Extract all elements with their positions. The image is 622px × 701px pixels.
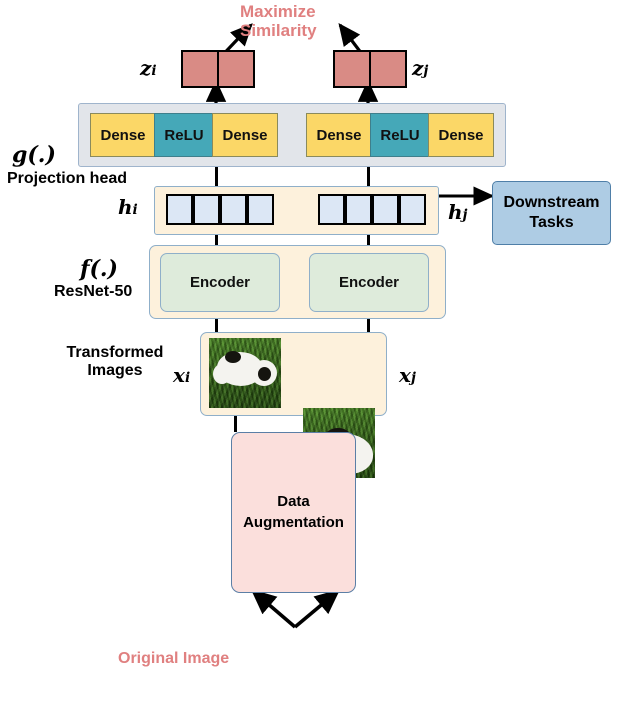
h-i-cell-3: [220, 194, 247, 225]
x-i-sub: i: [185, 370, 190, 386]
x-i-label: xi: [173, 363, 190, 387]
h-j-cell-1: [318, 194, 345, 225]
downstream-tasks-box[interactable]: Downstream Tasks: [492, 181, 611, 245]
h-j-base: h: [448, 200, 463, 224]
x-j-base: x: [399, 363, 411, 387]
transformed-image-i: [209, 338, 281, 408]
x-j-sub: j: [411, 370, 416, 386]
z-i-divider: [217, 52, 219, 86]
h-j-cell-4: [399, 194, 426, 225]
z-j-base: z: [412, 56, 423, 80]
original-to-augment-right: [295, 591, 338, 627]
h-j-cell-3: [372, 194, 399, 225]
projection-dense-right-1: Dense: [306, 113, 372, 157]
projection-head-name-label: Projection head: [7, 170, 127, 188]
z-i-sub: i: [151, 63, 156, 79]
h-i-cell-1: [166, 194, 193, 225]
dog-patch-i-2: [225, 351, 241, 363]
maximize-similarity-label: Maximize Similarity: [240, 2, 360, 40]
original-image-label: Original Image: [118, 650, 229, 668]
projection-dense-left-2: Dense: [212, 113, 278, 157]
dog-tail-i: [213, 364, 231, 384]
h-j-label: hj: [448, 200, 467, 224]
h-i-sub: i: [133, 202, 138, 218]
projection-head-function-label: g(.): [12, 142, 56, 168]
z-j-block: [333, 50, 407, 88]
h-j-sub: j: [463, 207, 468, 223]
z-j-sub: j: [423, 63, 428, 79]
h-j-cell-2: [345, 194, 372, 225]
h-i-cell-2: [193, 194, 220, 225]
x-i-base: x: [173, 363, 185, 387]
h-i-label: hi: [118, 195, 138, 219]
diagram-canvas: Maximize Similarity zi zj Dense ReLU Den…: [0, 0, 622, 701]
encoder-box-left: Encoder: [160, 253, 280, 312]
encoder-box-right: Encoder: [309, 253, 429, 312]
z-i-block: [181, 50, 255, 88]
projection-dense-left-1: Dense: [90, 113, 156, 157]
encoder-name-label: ResNet-50: [54, 283, 132, 301]
h-i-cell-4: [247, 194, 274, 225]
h-i-base: h: [118, 195, 133, 219]
projection-relu-right: ReLU: [370, 113, 430, 157]
encoder-function-label: f(.): [80, 256, 118, 282]
z-j-divider: [369, 52, 371, 86]
x-j-label: xj: [399, 363, 416, 387]
transformed-images-label: Transformed Images: [50, 344, 180, 380]
original-to-augment-left: [253, 591, 295, 627]
z-i-base: z: [140, 56, 151, 80]
z-j-label: zj: [412, 56, 428, 80]
data-augmentation-box: Data Augmentation: [231, 432, 356, 593]
projection-relu-left: ReLU: [154, 113, 214, 157]
projection-dense-right-2: Dense: [428, 113, 494, 157]
z-i-label: zi: [140, 56, 157, 80]
dog-patch-i-1: [258, 367, 271, 381]
